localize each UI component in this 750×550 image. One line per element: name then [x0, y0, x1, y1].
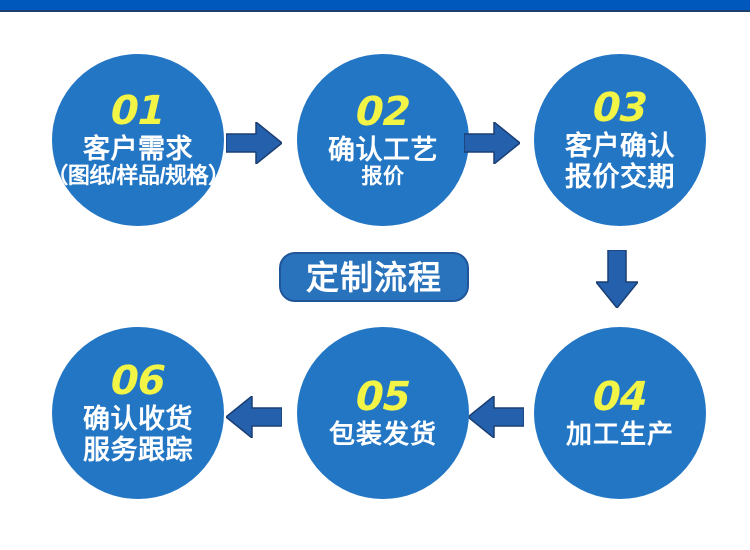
step-number-01: 01 — [110, 91, 165, 131]
step-label-01-line1: 客户需求 — [83, 134, 193, 164]
step-number-04: 04 — [592, 377, 647, 417]
step-label-group-06: 确认收货 服务跟踪 — [83, 404, 193, 464]
process-step-04[interactable]: 04 加工生产 — [534, 327, 706, 499]
arrow-down-icon-03-to-04 — [596, 250, 638, 308]
step-label-04-line1: 加工生产 — [566, 420, 674, 449]
step-label-02-line2: 报价 — [362, 165, 405, 189]
step-label-03-line1: 客户确认 — [565, 131, 675, 161]
process-step-02[interactable]: 02 确认工艺 报价 — [297, 54, 469, 226]
diagram-title-badge: 定制流程 — [279, 252, 469, 302]
arrow-left-icon-05-to-06 — [226, 396, 282, 438]
step-label-group-03: 客户确认 报价交期 — [565, 131, 675, 191]
step-label-group-05: 包装发货 — [329, 420, 437, 449]
step-label-01-line2: （图纸/样品/规格） — [46, 164, 229, 189]
step-label-06-line1: 确认收货 — [83, 404, 193, 434]
step-label-02-line1: 确认工艺 — [328, 135, 438, 165]
step-label-group-01: 客户需求 （图纸/样品/规格） — [46, 134, 229, 189]
step-label-05-line1: 包装发货 — [329, 420, 437, 449]
process-step-01[interactable]: 01 客户需求 （图纸/样品/规格） — [52, 54, 224, 226]
process-step-03[interactable]: 03 客户确认 报价交期 — [534, 54, 706, 226]
step-number-05: 05 — [355, 377, 410, 417]
step-number-03: 03 — [592, 88, 647, 128]
arrow-right-icon-01-to-02 — [226, 122, 282, 164]
arrow-left-icon-04-to-05 — [468, 396, 524, 438]
step-label-03-line2: 报价交期 — [565, 162, 675, 192]
step-number-02: 02 — [355, 92, 410, 132]
process-flow-diagram: 01 客户需求 （图纸/样品/规格） 02 确认工艺 报价 03 客户确认 报价… — [0, 0, 750, 550]
step-label-group-02: 确认工艺 报价 — [328, 135, 438, 189]
diagram-title-text: 定制流程 — [306, 261, 442, 294]
arrow-right-icon-02-to-03 — [464, 122, 520, 164]
step-number-06: 06 — [110, 361, 165, 401]
step-label-06-line2: 服务跟踪 — [83, 435, 193, 465]
top-accent-bar — [0, 0, 750, 12]
process-step-05[interactable]: 05 包装发货 — [297, 327, 469, 499]
step-label-group-04: 加工生产 — [566, 420, 674, 449]
process-step-06[interactable]: 06 确认收货 服务跟踪 — [52, 327, 224, 499]
